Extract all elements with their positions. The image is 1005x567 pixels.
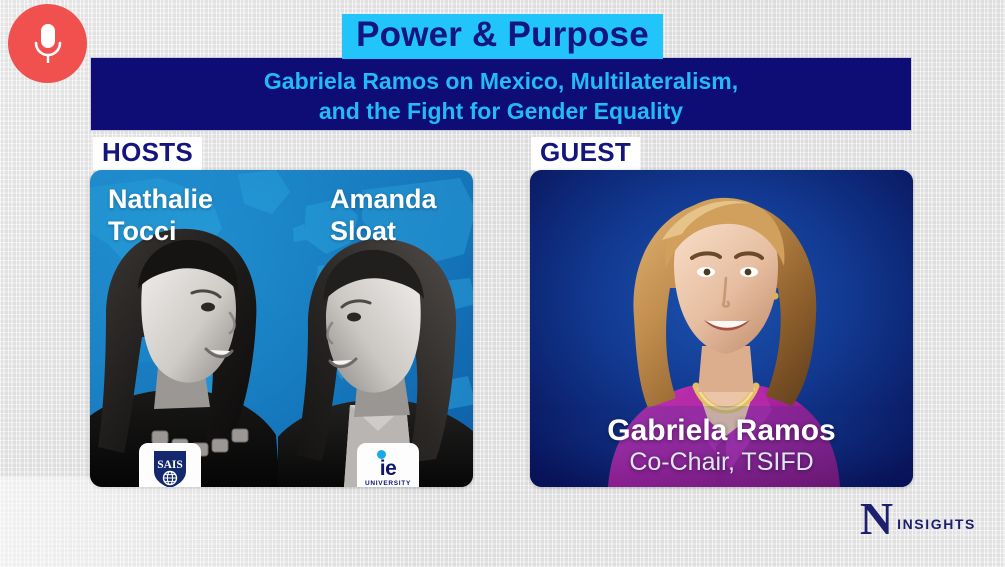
brand-mark-letter: N: [860, 501, 893, 538]
ie-logo-text: ie: [380, 460, 397, 479]
guest-name: Gabriela Ramos: [530, 414, 913, 447]
page-title-text: Power & Purpose: [342, 14, 663, 59]
episode-subtitle-line-2: and the Fight for Gender Equality: [264, 96, 738, 126]
host-name-2: Amanda Sloat: [330, 184, 437, 248]
guest-section-label: GUEST: [531, 137, 640, 170]
hosts-card[interactable]: Nathalie Tocci Amanda Sloat: [90, 170, 473, 487]
microphone-icon: [8, 4, 87, 83]
page-title: Power & Purpose: [0, 14, 1005, 59]
sais-shield-logo: SAIS: [139, 443, 201, 487]
episode-subtitle-line-1: Gabriela Ramos on Mexico, Multilateralis…: [264, 66, 738, 96]
ie-university-logo: ie UNIVERSITY: [357, 443, 419, 487]
ie-logo-subtext: UNIVERSITY: [365, 481, 411, 487]
hosts-section-label: HOSTS: [93, 137, 202, 170]
slide-canvas: Power & Purpose Gabriela Ramos on Mexico…: [0, 0, 1005, 567]
insights-n-logo: N INSIGHTS: [860, 501, 976, 538]
host-name-1: Nathalie Tocci: [108, 184, 213, 248]
guest-role: Co-Chair, TSIFD: [530, 448, 913, 477]
brand-wordmark: INSIGHTS: [897, 507, 976, 532]
guest-caption: Gabriela Ramos Co-Chair, TSIFD: [530, 414, 913, 477]
svg-text:SAIS: SAIS: [157, 459, 183, 471]
episode-subtitle-banner: Gabriela Ramos on Mexico, Multilateralis…: [90, 57, 912, 131]
guest-card[interactable]: Gabriela Ramos Co-Chair, TSIFD: [530, 170, 913, 487]
